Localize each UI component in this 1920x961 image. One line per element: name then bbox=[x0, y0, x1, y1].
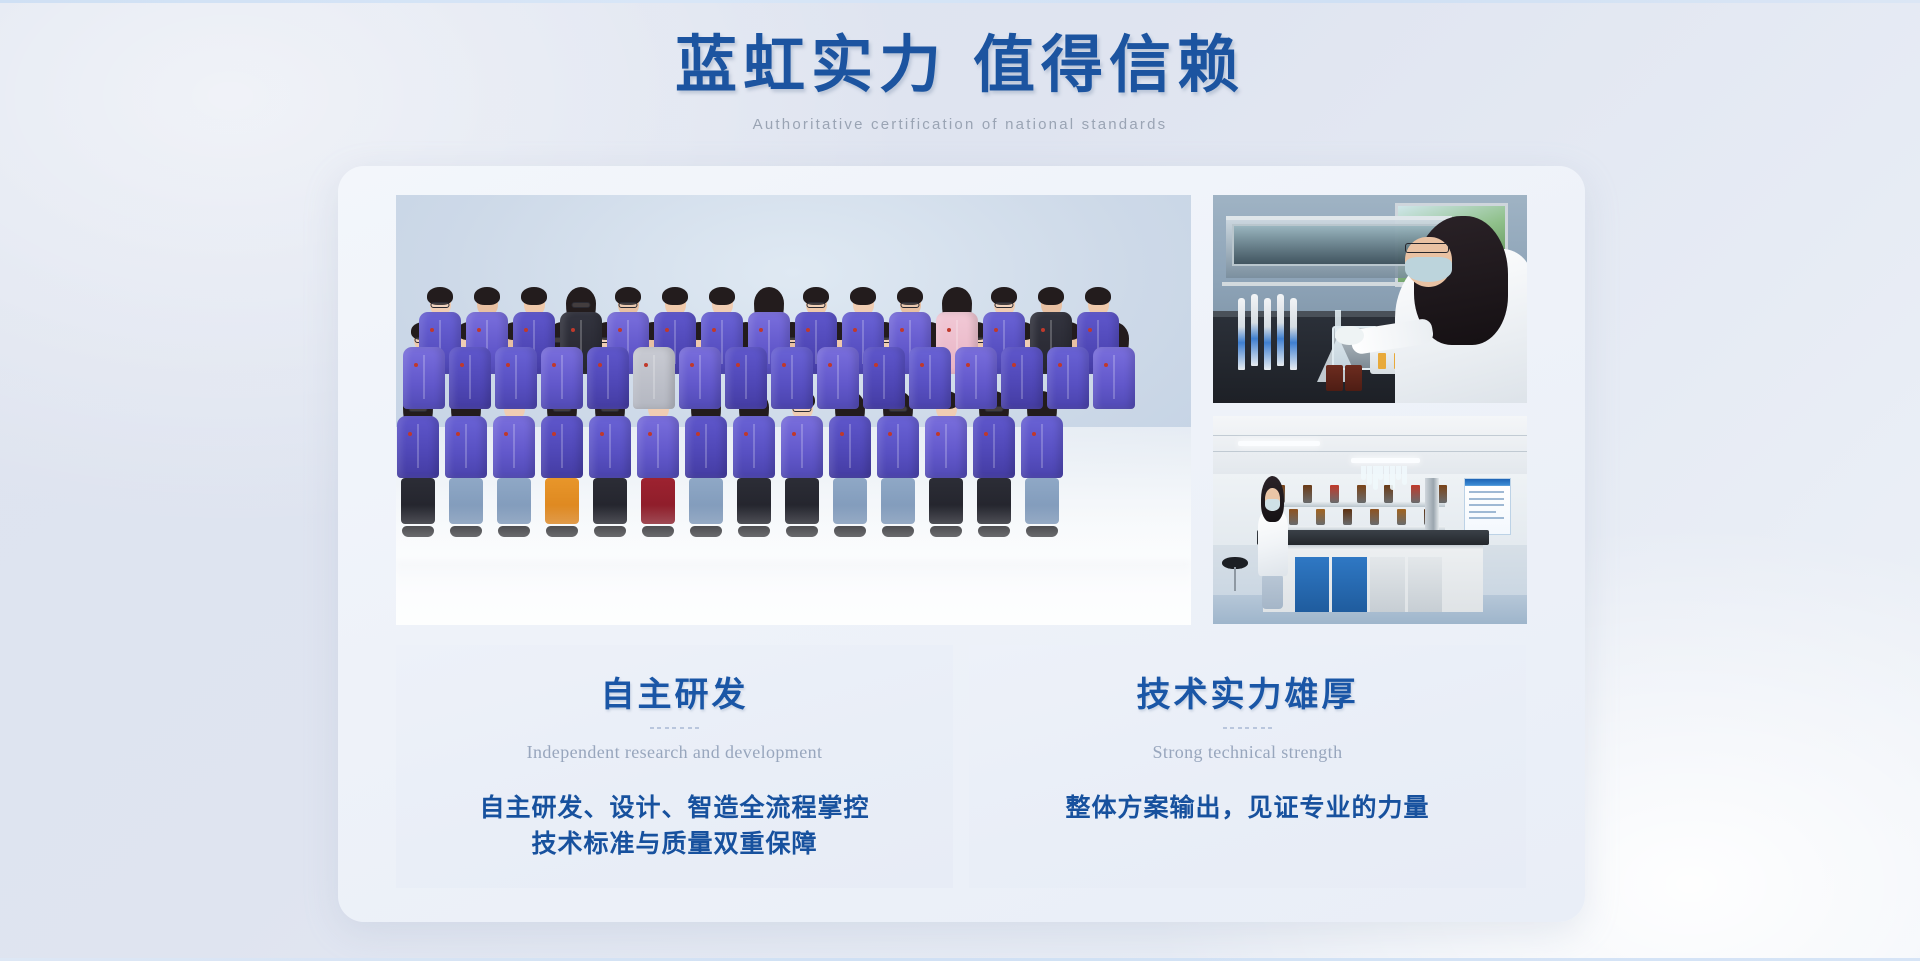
lab1-technician-glasses bbox=[1405, 243, 1449, 253]
lab2-glass-tube bbox=[1384, 466, 1389, 485]
lab2-stool bbox=[1222, 557, 1247, 590]
team-member-logo bbox=[408, 432, 412, 436]
lab1-pipette bbox=[1277, 294, 1284, 366]
feature-card-technical-strength[interactable]: 技术实力雄厚 Strong technical strength 整体方案输出，… bbox=[969, 645, 1526, 888]
lab2-reagent-bottle bbox=[1289, 509, 1298, 525]
team-member-hair bbox=[521, 287, 547, 305]
lab2-researcher-coat bbox=[1258, 512, 1288, 576]
photo-gallery bbox=[396, 195, 1527, 625]
team-member-logo bbox=[936, 432, 940, 436]
team-member-hair bbox=[850, 287, 876, 305]
card-divider-dots bbox=[650, 725, 700, 731]
laboratory-room-photo[interactable] bbox=[1213, 416, 1527, 624]
team-member-logo bbox=[644, 363, 648, 367]
company-team-group-photo[interactable] bbox=[396, 195, 1191, 625]
divider-dot bbox=[650, 727, 654, 729]
team-member-logo bbox=[648, 432, 652, 436]
card-description: 整体方案输出，见证专业的力量 bbox=[969, 791, 1526, 827]
team-member-logo bbox=[571, 328, 575, 332]
team-member-jacket bbox=[1047, 347, 1089, 409]
team-member-glasses bbox=[901, 302, 920, 308]
divider-dot bbox=[1268, 727, 1272, 729]
lab2-cabinet-gray-b bbox=[1408, 557, 1443, 611]
lab2-researcher-legs bbox=[1262, 574, 1283, 610]
lab2-reagent-bottle bbox=[1370, 509, 1379, 525]
team-member-logo bbox=[524, 328, 528, 332]
lab1-brown-bottle-b bbox=[1345, 365, 1362, 391]
team-member-logo bbox=[456, 432, 460, 436]
team-member-jacket bbox=[587, 347, 629, 409]
team-member-jacket bbox=[955, 347, 997, 409]
team-member-hair bbox=[662, 287, 688, 305]
lab2-reagent-bottle bbox=[1357, 485, 1366, 503]
card-subtitle-english: Independent research and development bbox=[396, 742, 953, 763]
team-member-logo bbox=[712, 328, 716, 332]
lab2-ceiling-lamp-b bbox=[1351, 458, 1420, 463]
team-member-logo bbox=[984, 432, 988, 436]
divider-dot bbox=[657, 727, 661, 729]
team-member-logo bbox=[1032, 432, 1036, 436]
lab2-wall-poster bbox=[1464, 478, 1511, 534]
team-member-glasses bbox=[807, 302, 826, 308]
lab2-reagent-bottle bbox=[1343, 509, 1352, 525]
lab2-cabinet-blue-b bbox=[1332, 557, 1367, 611]
team-member-logo bbox=[460, 363, 464, 367]
team-member-logo bbox=[782, 363, 786, 367]
team-member-logo bbox=[828, 363, 832, 367]
team-member-logo bbox=[600, 432, 604, 436]
lab2-reagent-bottle bbox=[1397, 509, 1406, 525]
team-member-logo bbox=[618, 328, 622, 332]
lab1-pipette-stand bbox=[1238, 299, 1320, 370]
lab2-poster-line-e bbox=[1469, 517, 1504, 519]
lab2-glass-tube bbox=[1396, 466, 1401, 480]
team-member-logo bbox=[874, 363, 878, 367]
team-member-logo bbox=[900, 328, 904, 332]
team-member-jacket bbox=[445, 416, 487, 478]
team-member-glasses bbox=[995, 302, 1014, 308]
divider-dot bbox=[680, 727, 684, 729]
lab2-poster-line-a bbox=[1469, 491, 1504, 493]
team-member-logo bbox=[736, 363, 740, 367]
divider-dot bbox=[1223, 727, 1227, 729]
divider-dot bbox=[695, 727, 699, 729]
team-member-logo bbox=[1041, 328, 1045, 332]
team-member-jacket bbox=[685, 416, 727, 478]
card-description-line1: 整体方案输出，见证专业的力量 bbox=[969, 791, 1526, 827]
team-member-jacket bbox=[541, 347, 583, 409]
lab2-researcher bbox=[1257, 476, 1288, 609]
page-title-part1: 蓝虹实力 bbox=[675, 32, 947, 100]
team-member-jacket bbox=[397, 416, 439, 478]
feature-cards: 自主研发 Independent research and developmen… bbox=[396, 645, 1527, 888]
team-member-logo bbox=[1104, 363, 1108, 367]
team-member-logo bbox=[792, 432, 796, 436]
lab2-poster-line-c bbox=[1469, 504, 1504, 506]
feature-card-independent-rnd[interactable]: 自主研发 Independent research and developmen… bbox=[396, 645, 953, 888]
team-member-jacket bbox=[493, 416, 535, 478]
team-member-jacket bbox=[733, 416, 775, 478]
team-member-logo bbox=[920, 363, 924, 367]
card-divider-dots bbox=[1223, 725, 1273, 731]
divider-dot bbox=[1245, 727, 1249, 729]
team-member-logo bbox=[966, 363, 970, 367]
team-member-jacket bbox=[403, 347, 445, 409]
lab1-technician-glove bbox=[1335, 326, 1363, 345]
lab2-glass-tube bbox=[1390, 466, 1395, 490]
team-member-logo bbox=[744, 432, 748, 436]
divider-dot bbox=[1253, 727, 1257, 729]
lab1-pipette bbox=[1290, 298, 1297, 370]
team-member-glasses bbox=[572, 302, 591, 308]
side-photo-column bbox=[1213, 195, 1527, 625]
card-subtitle-english: Strong technical strength bbox=[969, 742, 1526, 763]
team-member-logo bbox=[690, 363, 694, 367]
team-member-jacket bbox=[449, 347, 491, 409]
divider-dot bbox=[665, 727, 669, 729]
lab2-cabinet-gray-a bbox=[1370, 557, 1405, 611]
team-member-jacket bbox=[633, 347, 675, 409]
team-member-logo bbox=[994, 328, 998, 332]
team-member-hair bbox=[1038, 287, 1064, 305]
lab2-glass-tube bbox=[1373, 466, 1378, 490]
team-member-jacket bbox=[541, 416, 583, 478]
team-member-logo bbox=[552, 363, 556, 367]
team-member-jacket bbox=[925, 416, 967, 478]
content-panel: 自主研发 Independent research and developmen… bbox=[338, 166, 1585, 922]
page-title: 蓝虹实力值得信赖 bbox=[0, 28, 1920, 106]
team-member-logo bbox=[552, 432, 556, 436]
team-member-logo bbox=[1058, 363, 1062, 367]
team-member-jacket bbox=[973, 416, 1015, 478]
team-member-jacket bbox=[829, 416, 871, 478]
team-member-jacket bbox=[679, 347, 721, 409]
divider-dot bbox=[1238, 727, 1242, 729]
lab1-brown-bottle-a bbox=[1326, 365, 1343, 391]
divider-dot bbox=[1230, 727, 1234, 729]
card-title: 技术实力雄厚 bbox=[969, 667, 1526, 716]
team-member-hair bbox=[1085, 287, 1111, 305]
lab2-reagent-bottle bbox=[1303, 485, 1312, 503]
team-member-logo bbox=[665, 328, 669, 332]
lab2-glass-tube bbox=[1378, 466, 1383, 480]
team-member-logo bbox=[1088, 328, 1092, 332]
divider-dot bbox=[688, 727, 692, 729]
divider-dot bbox=[672, 727, 676, 729]
card-description: 自主研发、设计、智造全流程掌控 技术标准与质量双重保障 bbox=[396, 791, 953, 864]
team-member-glasses bbox=[619, 302, 638, 308]
team-member-logo bbox=[853, 328, 857, 332]
team-member-jacket bbox=[877, 416, 919, 478]
lab2-reagent-bottle bbox=[1411, 485, 1420, 503]
team-member-jacket bbox=[589, 416, 631, 478]
team-member-logo bbox=[504, 432, 508, 436]
lab2-poster-line-b bbox=[1469, 498, 1504, 500]
team-member-jacket bbox=[863, 347, 905, 409]
team-member-jacket bbox=[495, 347, 537, 409]
card-description-line2: 技术标准与质量双重保障 bbox=[396, 827, 953, 863]
team-member-logo bbox=[430, 328, 434, 332]
lab2-reagent-bottle bbox=[1330, 485, 1339, 503]
team-member-logo bbox=[1012, 363, 1016, 367]
lab2-reagent-bottle bbox=[1316, 509, 1325, 525]
page-header: 蓝虹实力值得信赖 Authoritative certification of … bbox=[0, 28, 1920, 133]
team-member-jacket bbox=[637, 416, 679, 478]
lab2-poster-line-d bbox=[1469, 511, 1496, 513]
lab2-cabinet-blue-a bbox=[1295, 557, 1330, 611]
lab2-glass-tube bbox=[1361, 466, 1366, 480]
page-title-part2: 值得信赖 bbox=[973, 32, 1245, 100]
team-member-logo bbox=[840, 432, 844, 436]
team-member-hair bbox=[709, 287, 735, 305]
lab2-glass-tube bbox=[1402, 466, 1407, 485]
card-title: 自主研发 bbox=[396, 667, 953, 716]
team-member-logo bbox=[506, 363, 510, 367]
team-member-logo bbox=[759, 328, 763, 332]
team-member-jacket bbox=[1001, 347, 1043, 409]
team-member-logo bbox=[947, 328, 951, 332]
photo-bottom-fade bbox=[396, 505, 1191, 625]
lab2-stool-leg bbox=[1234, 567, 1236, 590]
team-member-glasses bbox=[431, 302, 450, 308]
lab2-glass-tube bbox=[1367, 466, 1372, 485]
team-member-jacket bbox=[1093, 347, 1135, 409]
team-member-jacket bbox=[817, 347, 859, 409]
team-member-jacket bbox=[909, 347, 951, 409]
team-member-logo bbox=[477, 328, 481, 332]
team-member-logo bbox=[598, 363, 602, 367]
lab-technician-pipetting-photo[interactable] bbox=[1213, 195, 1527, 403]
lab1-technician-mask bbox=[1405, 257, 1452, 282]
team-member-jacket bbox=[781, 416, 823, 478]
team-member-jacket bbox=[771, 347, 813, 409]
lab2-researcher-mask bbox=[1265, 499, 1280, 511]
team-member-jacket bbox=[725, 347, 767, 409]
top-accent-strip bbox=[0, 0, 1920, 3]
team-member-logo bbox=[888, 432, 892, 436]
lab2-bench-worktop bbox=[1257, 530, 1489, 545]
lab1-sample-vial-a bbox=[1378, 353, 1386, 369]
team-member-logo bbox=[806, 328, 810, 332]
team-member-logo bbox=[414, 363, 418, 367]
lab2-ceiling-line-b bbox=[1213, 451, 1527, 452]
lab2-ceiling-line-a bbox=[1213, 435, 1527, 436]
team-member-logo bbox=[696, 432, 700, 436]
team-member-hair bbox=[474, 287, 500, 305]
team-member-jacket bbox=[1021, 416, 1063, 478]
card-description-line1: 自主研发、设计、智造全流程掌控 bbox=[396, 791, 953, 827]
lab1-pipette bbox=[1238, 298, 1245, 370]
lab1-pipette bbox=[1251, 294, 1258, 366]
lab2-ceiling-lamp-a bbox=[1238, 441, 1320, 446]
page-subtitle: Authoritative certification of national … bbox=[0, 116, 1920, 133]
lab2-reagent-bottle bbox=[1438, 485, 1447, 503]
lab1-pipette bbox=[1264, 298, 1271, 370]
divider-dot bbox=[1261, 727, 1265, 729]
